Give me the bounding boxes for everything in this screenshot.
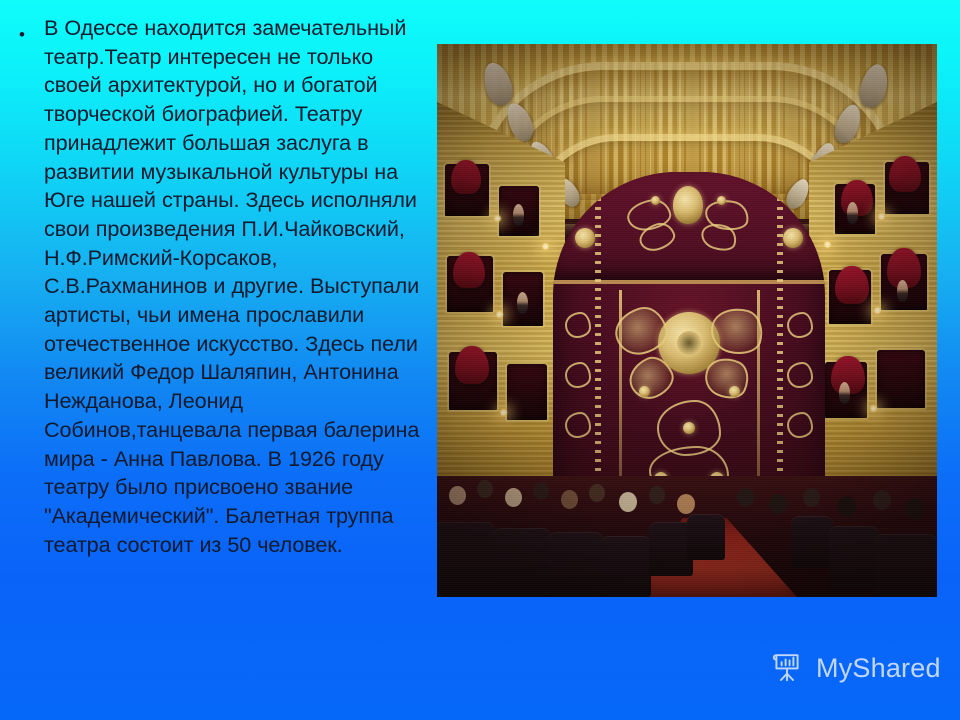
presentation-slide: • В Одессе находится замечательный театр…	[0, 0, 960, 720]
curtain-side-motif	[787, 362, 813, 388]
watermark-label: MyShared	[816, 655, 941, 682]
box-spectator	[897, 280, 908, 302]
audience-member	[649, 486, 665, 504]
slide-text-block: • В Одессе находится замечательный театр…	[10, 14, 430, 559]
curtain-rosette	[683, 422, 695, 434]
theatre-box	[877, 350, 925, 408]
audience-member	[837, 496, 856, 517]
box-spectator	[839, 382, 850, 404]
audience-member	[769, 494, 787, 514]
curtain-side-motif	[565, 362, 591, 388]
auditorium-seat	[493, 528, 551, 597]
audience-member	[619, 492, 637, 512]
curtain-rosette	[783, 228, 803, 248]
bullet-point-marker: •	[10, 14, 44, 43]
balcony-lamp	[869, 404, 878, 413]
box-red-drape	[453, 252, 485, 288]
audience-member	[561, 490, 578, 509]
curtain-side-motif	[565, 312, 591, 338]
audience-member	[589, 484, 605, 502]
balcony-lamp	[873, 306, 882, 315]
auditorium-seat	[437, 522, 495, 597]
box-red-drape	[835, 266, 869, 304]
auditorium-seat	[829, 526, 879, 590]
balcony-lamp	[499, 408, 508, 417]
balcony-lamp	[493, 214, 502, 223]
curtain-rosette	[639, 386, 650, 397]
box-red-drape	[889, 156, 921, 192]
curtain-medallion-core	[677, 331, 701, 355]
box-spectator	[847, 202, 858, 224]
box-red-drape	[455, 346, 489, 384]
audience-member	[505, 488, 522, 507]
balcony-lamp	[495, 310, 504, 319]
slide-body-paragraph: В Одессе находится замечательный театр.Т…	[44, 14, 430, 559]
box-red-drape	[451, 160, 481, 194]
audience-member	[737, 488, 754, 507]
curtain-side-motif	[565, 412, 591, 438]
curtain-crest-medallion	[673, 186, 703, 224]
auditorium-seat	[791, 516, 833, 568]
audience-member	[533, 482, 549, 500]
myshared-watermark: MyShared	[772, 651, 941, 685]
auditorium-seat	[875, 534, 937, 597]
balcony-lamp	[541, 242, 550, 251]
auditorium-seat	[601, 536, 651, 597]
auditorium-seat	[549, 532, 603, 597]
audience-member	[873, 490, 891, 510]
balcony-lamp	[823, 240, 832, 249]
theatre-interior-photo	[437, 44, 937, 597]
audience-member	[905, 498, 925, 520]
curtain-side-motif	[787, 412, 813, 438]
box-spectator	[517, 292, 528, 314]
audience-member	[477, 480, 493, 498]
curtain-rosette	[651, 196, 660, 205]
curtain-rosette	[575, 228, 595, 248]
audience-member	[803, 488, 820, 507]
curtain-side-motif	[787, 312, 813, 338]
audience-member	[449, 486, 466, 505]
theatre-box	[507, 364, 547, 420]
presentation-chart-icon	[772, 651, 806, 685]
curtain-rosette	[717, 196, 726, 205]
audience-member	[677, 494, 695, 514]
auditorium-seat	[687, 514, 725, 560]
balcony-lamp	[877, 212, 886, 221]
box-spectator	[513, 204, 524, 226]
curtain-rosette	[729, 386, 740, 397]
